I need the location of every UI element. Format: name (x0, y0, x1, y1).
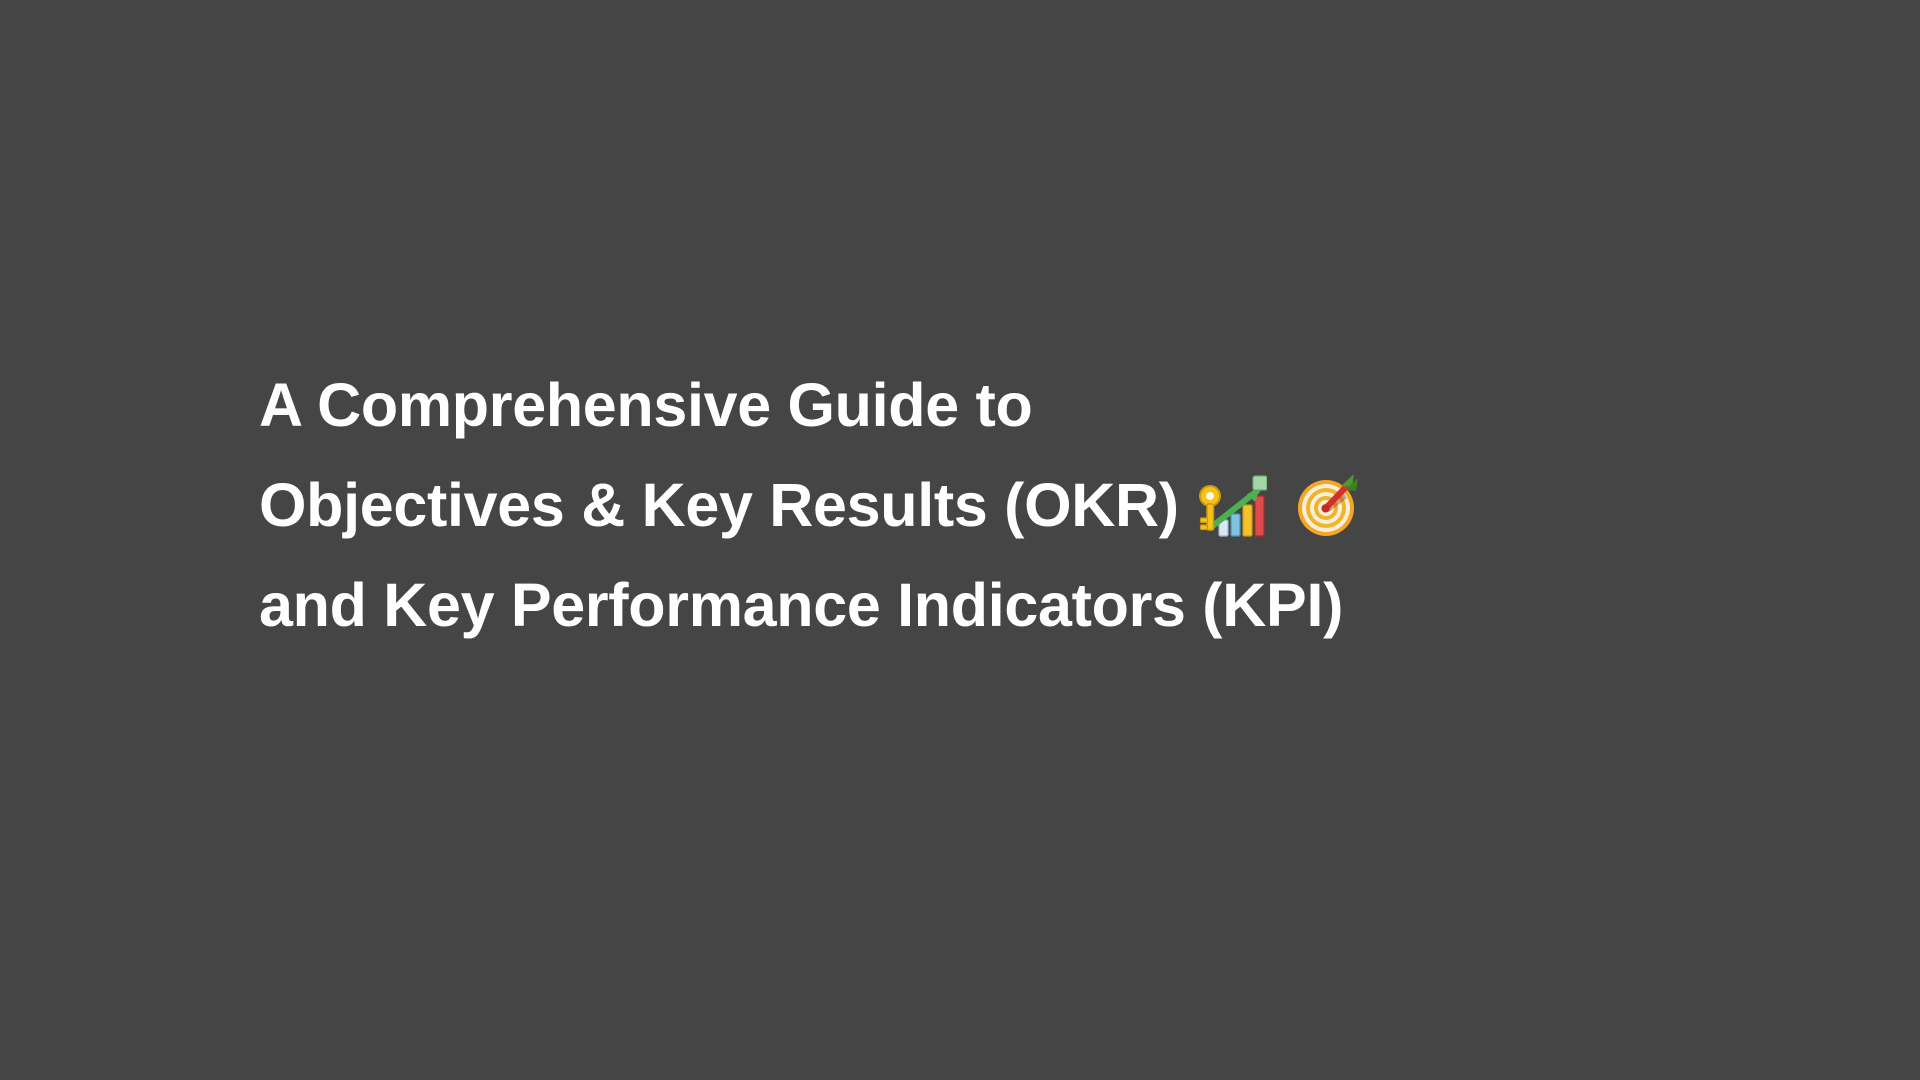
title-emoji-group (1197, 470, 1363, 540)
title-line-2: Objectives & Key Results (OKR) (259, 455, 1679, 555)
slide-canvas: A Comprehensive Guide to Objectives & Ke… (0, 0, 1920, 1080)
title-line-3-text: and Key Performance Indicators (KPI) (259, 555, 1343, 655)
title-line-2-text: Objectives & Key Results (OKR) (259, 455, 1179, 555)
page-title: A Comprehensive Guide to Objectives & Ke… (259, 355, 1679, 655)
title-line-1-text: A Comprehensive Guide to (259, 355, 1033, 455)
key-chart-increasing-icon (1197, 470, 1267, 540)
direct-hit-target-icon (1293, 470, 1363, 540)
title-line-1: A Comprehensive Guide to (259, 355, 1679, 455)
title-line-3: and Key Performance Indicators (KPI) (259, 555, 1679, 655)
